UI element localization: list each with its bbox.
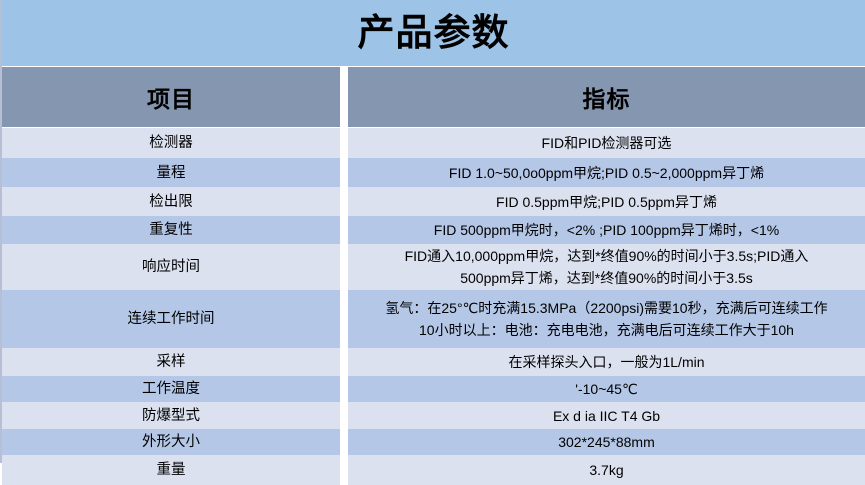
- table-cell-item-text: 采样: [157, 351, 186, 373]
- table-row: 响应时间FID通入10,000ppm甲烷，达到*终值90%的时间小于3.5s;P…: [2, 244, 865, 290]
- table-cell-spec-text: 氢气：在25°℃时充满15.3MPa（2200psi)需要10秒，充满后可连续工…: [385, 297, 827, 341]
- table-cell-item: 检出限: [2, 187, 340, 216]
- table-cell-spec: FID 0.5ppm甲烷;PID 0.5ppm异丁烯: [348, 187, 865, 216]
- table-cell-item-text: 连续工作时间: [128, 308, 215, 330]
- table-cell-item-text: 量程: [157, 162, 186, 184]
- table-cell-spec: 氢气：在25°℃时充满15.3MPa（2200psi)需要10秒，充满后可连续工…: [348, 290, 865, 348]
- table-row: 重复性FID 500ppm甲烷时，<2% ;PID 100ppm异丁烯时，<1%: [2, 216, 865, 244]
- table-cell-item-text: 检出限: [149, 191, 193, 213]
- table-cell-spec-text: FID通入10,000ppm甲烷，达到*终值90%的时间小于3.5s;PID通入…: [405, 245, 809, 289]
- table-row: 外形大小302*245*88mm: [2, 429, 865, 455]
- table-header-row: 项目 指标: [2, 67, 865, 127]
- table-header-label-item: 项目: [147, 80, 195, 114]
- table-row: 重量3.7kg: [2, 455, 865, 485]
- table-cell-spec-text: FID和PID检测器可选: [542, 132, 672, 154]
- table-cell-spec: FID 1.0~50,0o0ppm甲烷;PID 0.5~2,000ppm异丁烯: [348, 158, 865, 187]
- table-row: 连续工作时间氢气：在25°℃时充满15.3MPa（2200psi)需要10秒，充…: [2, 290, 865, 348]
- table-cell-spec-text: FID 0.5ppm甲烷;PID 0.5ppm异丁烯: [496, 191, 717, 213]
- table-cell-item: 重复性: [2, 216, 340, 244]
- table-cell-spec: 302*245*88mm: [348, 429, 865, 455]
- table-header-cell-item: 项目: [2, 67, 340, 127]
- table-row: 检出限FID 0.5ppm甲烷;PID 0.5ppm异丁烯: [2, 187, 865, 216]
- table-row: 量程FID 1.0~50,0o0ppm甲烷;PID 0.5~2,000ppm异丁…: [2, 158, 865, 187]
- table-cell-spec-text: Ex d ia IIC T4 Gb: [553, 405, 660, 427]
- table-cell-item: 工作温度: [2, 376, 340, 402]
- table-cell-spec: FID通入10,000ppm甲烷，达到*终值90%的时间小于3.5s;PID通入…: [348, 244, 865, 290]
- table-cell-item: 重量: [2, 455, 340, 485]
- table-cell-spec: FID 500ppm甲烷时，<2% ;PID 100ppm异丁烯时，<1%: [348, 216, 865, 244]
- table-cell-item-text: 响应时间: [142, 256, 200, 278]
- table-cell-spec: Ex d ia IIC T4 Gb: [348, 402, 865, 429]
- table-cell-spec-text: 302*245*88mm: [558, 431, 655, 453]
- table-cell-item: 响应时间: [2, 244, 340, 290]
- table-cell-item-text: 外形大小: [142, 431, 200, 453]
- table-cell-spec-text: FID 1.0~50,0o0ppm甲烷;PID 0.5~2,000ppm异丁烯: [449, 162, 764, 184]
- table-cell-item: 采样: [2, 348, 340, 376]
- table-cell-item-text: 重复性: [149, 219, 193, 241]
- table-cell-item-text: 重量: [157, 459, 186, 481]
- table-cell-item-text: 检测器: [149, 132, 193, 154]
- table-cell-item: 防爆型式: [2, 402, 340, 429]
- table-cell-item: 检测器: [2, 128, 340, 158]
- table-cell-item: 连续工作时间: [2, 290, 340, 348]
- table-cell-spec-text: '-10~45℃: [575, 378, 637, 400]
- table-cell-spec: FID和PID检测器可选: [348, 128, 865, 158]
- table-cell-item: 量程: [2, 158, 340, 187]
- page-title-bar: 产品参数: [2, 0, 865, 66]
- table-cell-spec: 3.7kg: [348, 455, 865, 485]
- product-spec-table-page: 产品参数 项目 指标 检测器FID和PID检测器可选量程FID 1.0~50,0…: [0, 0, 865, 463]
- table-cell-spec-text: 3.7kg: [589, 459, 623, 481]
- table-cell-spec: 在采样探头入口，一般为1L/min: [348, 348, 865, 376]
- table-cell-item: 外形大小: [2, 429, 340, 455]
- table-row: 工作温度'-10~45℃: [2, 376, 865, 402]
- table-header-cell-spec: 指标: [348, 67, 865, 127]
- table-cell-spec-text: FID 500ppm甲烷时，<2% ;PID 100ppm异丁烯时，<1%: [434, 219, 779, 241]
- table-cell-item-text: 工作温度: [142, 378, 200, 400]
- table-body: 检测器FID和PID检测器可选量程FID 1.0~50,0o0ppm甲烷;PID…: [2, 128, 865, 485]
- table-row: 检测器FID和PID检测器可选: [2, 128, 865, 158]
- table-cell-spec: '-10~45℃: [348, 376, 865, 402]
- page-title: 产品参数: [358, 14, 510, 53]
- table-row: 防爆型式Ex d ia IIC T4 Gb: [2, 402, 865, 429]
- table-header-label-spec: 指标: [583, 80, 631, 114]
- table-cell-item-text: 防爆型式: [142, 405, 200, 427]
- table-row: 采样在采样探头入口，一般为1L/min: [2, 348, 865, 376]
- table-cell-spec-text: 在采样探头入口，一般为1L/min: [508, 351, 704, 373]
